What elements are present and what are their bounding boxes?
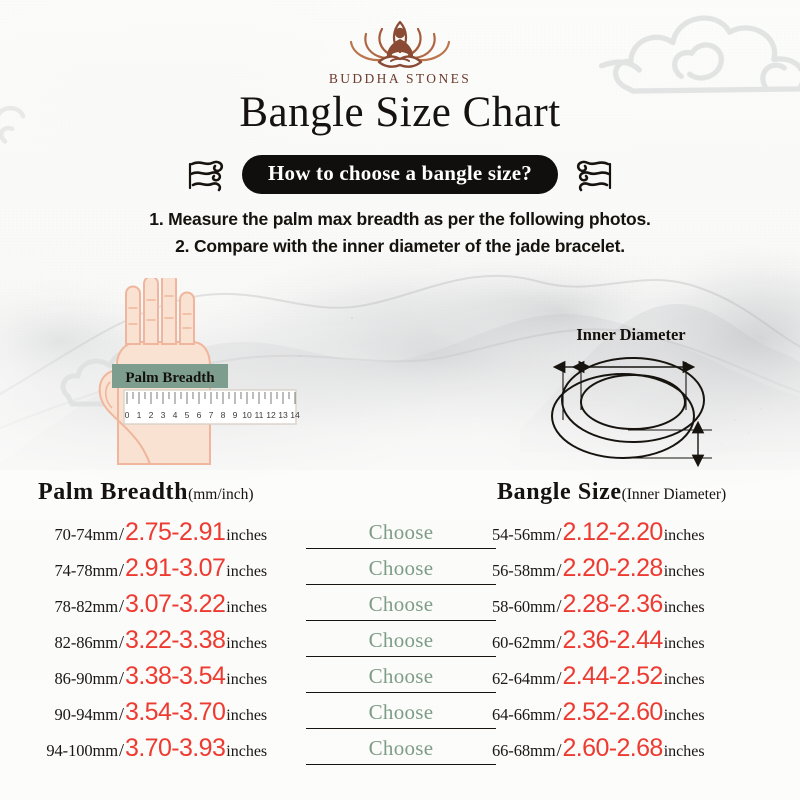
choose-write-line	[306, 584, 496, 585]
bangle-size-row: 62-64mm/2.44-2.52inches	[492, 664, 784, 700]
choose-label[interactable]: Choose	[306, 556, 496, 581]
subtitle-row: How to choose a bangle size?	[0, 155, 800, 194]
choose-write-line	[306, 620, 496, 621]
palm-size-mm: 90-94mm	[22, 705, 118, 725]
palm-size-separator: /	[118, 524, 125, 545]
palm-size-inches-value: 3.54-3.70	[125, 700, 225, 725]
instruction-line-1: 1. Measure the palm max breadth as per t…	[0, 206, 800, 233]
bangle-inner-diameter-illustration: Inner Diameter	[508, 322, 748, 474]
choose-cell[interactable]: Choose	[306, 628, 496, 664]
palm-size-inches-value: 3.07-3.22	[125, 592, 225, 617]
palm-size-separator: /	[118, 704, 125, 725]
ruler: 01234567891011121314	[124, 390, 300, 424]
choose-cell[interactable]: Choose	[306, 700, 496, 736]
ruler-tick-label: 2	[149, 410, 154, 420]
choose-write-line	[306, 692, 496, 693]
ruler-tick-label: 8	[221, 410, 226, 420]
palm-size-mm: 74-78mm	[22, 561, 118, 581]
choose-cell[interactable]: Choose	[306, 736, 496, 772]
bangle-size-mm: 60-62mm	[492, 633, 555, 653]
choose-write-line	[306, 656, 496, 657]
palm-size-inches-value: 2.91-3.07	[125, 556, 225, 581]
ruler-tick-label: 7	[209, 410, 214, 420]
ruler-tick-label: 9	[233, 410, 238, 420]
bangle-size-column-header: Bangle Size(Inner Diameter)	[497, 479, 726, 506]
choose-label[interactable]: Choose	[306, 700, 496, 725]
bangle-size-inches-value: 2.12-2.20	[562, 520, 662, 545]
bangle-size-inches-unit: inches	[664, 527, 705, 545]
bangle-size-mm: 56-58mm	[492, 561, 555, 581]
palm-size-inches-value: 3.38-3.54	[125, 664, 225, 689]
palm-size-separator: /	[118, 632, 125, 653]
bangle-size-inches-value: 2.28-2.36	[562, 592, 662, 617]
bangle-size-inches-unit: inches	[664, 743, 705, 761]
bangle-size-inches-unit: inches	[664, 671, 705, 689]
palm-breadth-badge: Palm Breadth	[112, 364, 228, 388]
bangle-size-separator: /	[555, 704, 562, 725]
instruction-line-2: 2. Compare with the inner diameter of th…	[0, 233, 800, 260]
instructions-list: 1. Measure the palm max breadth as per t…	[0, 206, 800, 260]
palm-size-inches-unit: inches	[226, 707, 267, 725]
bangle-size-inches-unit: inches	[664, 563, 705, 581]
bangle-size-separator: /	[555, 668, 562, 689]
palm-size-separator: /	[118, 596, 125, 617]
bangle-size-separator: /	[555, 560, 562, 581]
choose-cell[interactable]: Choose	[306, 592, 496, 628]
bangle-size-inches-value: 2.60-2.68	[562, 736, 662, 761]
ruler-tick-label: 5	[185, 410, 190, 420]
bangle-size-row: 60-62mm/2.36-2.44inches	[492, 628, 784, 664]
palm-size-separator: /	[118, 668, 125, 689]
bangle-size-mm: 66-68mm	[492, 741, 555, 761]
bangle-size-inches-unit: inches	[664, 599, 705, 617]
ruler-tick-label: 12	[266, 410, 276, 420]
ruler-tick-label: 4	[173, 410, 178, 420]
bangle-size-row: 64-66mm/2.52-2.60inches	[492, 700, 784, 736]
bangle-size-inches-value: 2.52-2.60	[562, 700, 662, 725]
palm-size-inches-unit: inches	[226, 671, 267, 689]
bangle-size-mm: 58-60mm	[492, 597, 555, 617]
palm-size-separator: /	[118, 560, 125, 581]
inner-diameter-caption: Inner Diameter	[576, 325, 685, 344]
bangle-size-separator: /	[555, 632, 562, 653]
palm-size-mm: 86-90mm	[22, 669, 118, 689]
bangle-size-mm: 54-56mm	[492, 525, 555, 545]
choose-write-line	[306, 548, 496, 549]
palm-size-mm: 94-100mm	[22, 741, 118, 761]
ruler-tick-label: 10	[242, 410, 252, 420]
choose-label[interactable]: Choose	[306, 520, 496, 545]
palm-size-inches-unit: inches	[226, 599, 267, 617]
ruler-tick-label: 13	[278, 410, 288, 420]
ruler-tick-label: 6	[197, 410, 202, 420]
bangle-size-row: 54-56mm/2.12-2.20inches	[492, 520, 784, 556]
cloud-swirl-ornament-right-icon	[572, 157, 612, 193]
bangle-size-row: 58-60mm/2.28-2.36inches	[492, 592, 784, 628]
palm-size-separator: /	[118, 740, 125, 761]
bangle-size-mm: 62-64mm	[492, 669, 555, 689]
page-root: BUDDHA STONES Bangle Size Chart How to c…	[0, 0, 800, 800]
ruler-tick-label: 11	[255, 410, 264, 420]
choose-label[interactable]: Choose	[306, 736, 496, 761]
palm-size-inches-value: 3.70-3.93	[125, 736, 225, 761]
palm-size-inches-value: 2.75-2.91	[125, 520, 225, 545]
ruler-tick-label: 3	[161, 410, 166, 420]
choose-write-line	[306, 764, 496, 765]
choose-column: ChooseChooseChooseChooseChooseChooseChoo…	[306, 520, 496, 772]
brand-name: BUDDHA STONES	[0, 71, 800, 87]
palm-size-mm: 82-86mm	[22, 633, 118, 653]
bangle-size-inches-value: 2.44-2.52	[562, 664, 662, 689]
hand-palm-measure-illustration: Palm Breadth	[96, 278, 326, 468]
palm-size-mm: 78-82mm	[22, 597, 118, 617]
brand-logo: BUDDHA STONES	[0, 8, 800, 87]
bangle-size-inches-unit: inches	[664, 707, 705, 725]
subtitle-pill: How to choose a bangle size?	[242, 155, 558, 194]
palm-size-inches-unit: inches	[226, 563, 267, 581]
bangle-size-separator: /	[555, 524, 562, 545]
bangle-size-inches-value: 2.36-2.44	[562, 628, 662, 653]
choose-write-line	[306, 728, 496, 729]
bangle-column-unit: (Inner Diameter)	[622, 486, 727, 503]
choose-label[interactable]: Choose	[306, 628, 496, 653]
page-title: Bangle Size Chart	[0, 88, 800, 137]
bangle-size-separator: /	[555, 596, 562, 617]
bangle-size-row: 66-68mm/2.60-2.68inches	[492, 736, 784, 772]
bangle-size-separator: /	[555, 740, 562, 761]
bangle-size-table: 54-56mm/2.12-2.20inches56-58mm/2.20-2.28…	[492, 520, 784, 772]
palm-column-title: Palm Breadth	[38, 479, 188, 505]
palm-size-inches-unit: inches	[226, 635, 267, 653]
bangle-size-inches-value: 2.20-2.28	[562, 556, 662, 581]
palm-size-inches-value: 3.22-3.38	[125, 628, 225, 653]
choose-cell[interactable]: Choose	[306, 664, 496, 700]
palm-size-mm: 70-74mm	[22, 525, 118, 545]
palm-size-inches-unit: inches	[226, 527, 267, 545]
ruler-tick-label: 0	[125, 410, 130, 420]
lotus-meditation-icon	[341, 8, 459, 70]
bangle-size-mm: 64-66mm	[492, 705, 555, 725]
bangle-column-title: Bangle Size	[497, 479, 622, 505]
bangle-size-inches-unit: inches	[664, 635, 705, 653]
choose-label[interactable]: Choose	[306, 664, 496, 689]
ruler-tick-label: 14	[290, 410, 300, 420]
bangle-size-row: 56-58mm/2.20-2.28inches	[492, 556, 784, 592]
ruler-tick-label: 1	[137, 410, 142, 420]
palm-size-inches-unit: inches	[226, 743, 267, 761]
choose-cell[interactable]: Choose	[306, 520, 496, 556]
cloud-swirl-ornament-left-icon	[188, 157, 228, 193]
choose-label[interactable]: Choose	[306, 592, 496, 617]
palm-column-unit: (mm/inch)	[188, 486, 253, 503]
choose-cell[interactable]: Choose	[306, 556, 496, 592]
palm-breadth-column-header: Palm Breadth(mm/inch)	[38, 479, 254, 506]
palm-breadth-label: Palm Breadth	[125, 370, 215, 386]
